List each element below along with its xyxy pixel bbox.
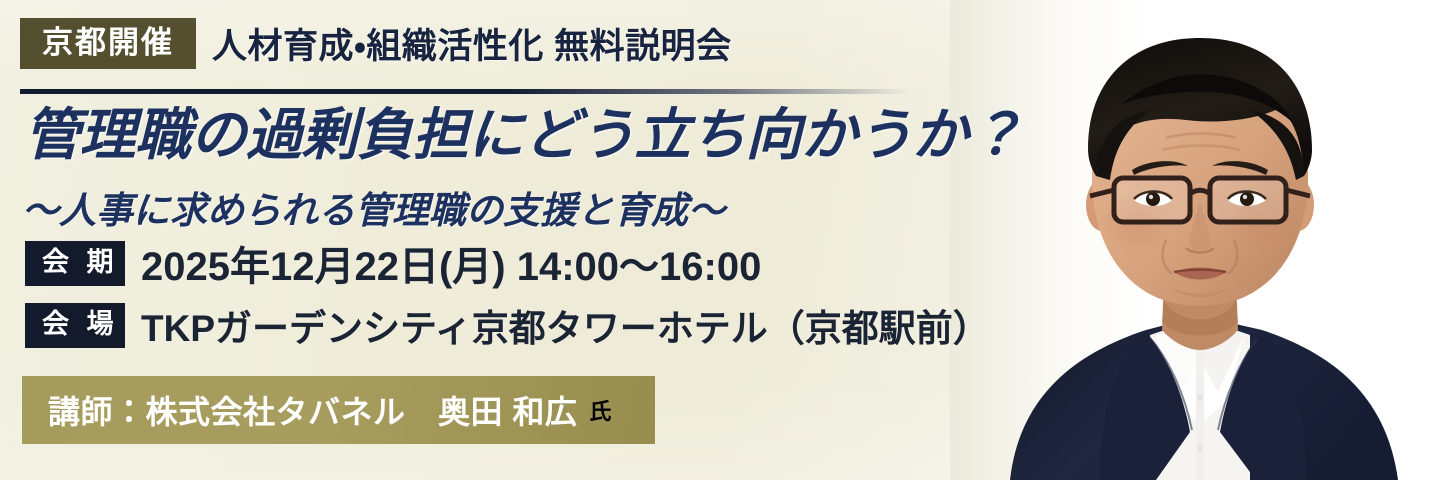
venue-value: TKPガーデンシティ京都タワーホテル（京都駅前）	[141, 298, 990, 352]
header-row: 京都開催 人材育成・組織活性化 無料説明会	[20, 18, 732, 69]
header-divider	[20, 89, 910, 94]
header-title: 人材育成・組織活性化 無料説明会	[212, 18, 732, 69]
date-label-badge: 会 期	[25, 241, 125, 286]
page-subtitle: ～人事に求められる管理職の支援と育成～	[22, 180, 725, 234]
location-badge: 京都開催	[20, 18, 196, 69]
speaker-portrait-photo	[950, 0, 1450, 480]
date-row: 会 期 2025年12月22日(月) 14:00〜16:00	[25, 234, 761, 292]
venue-label-badge: 会 場	[25, 303, 125, 348]
page-title: 管理職の過剰負担にどう立ち向かうか？	[24, 104, 1023, 167]
venue-row: 会 場 TKPガーデンシティ京都タワーホテル（京都駅前）	[25, 298, 990, 352]
speaker-bar: 講師：株式会社タバネル 奥田 和広 氏	[22, 376, 655, 444]
portrait-illustration	[950, 0, 1450, 480]
banner-content: 京都開催 人材育成・組織活性化 無料説明会 管理職の過剰負担にどう立ち向かうか？…	[0, 0, 1000, 480]
seminar-banner: 京都開催 人材育成・組織活性化 無料説明会 管理職の過剰負担にどう立ち向かうか？…	[0, 0, 1450, 480]
date-value: 2025年12月22日(月) 14:00〜16:00	[141, 234, 761, 292]
speaker-name: 講師：株式会社タバネル 奥田 和広	[48, 387, 577, 433]
speaker-honorific: 氏	[589, 394, 611, 426]
